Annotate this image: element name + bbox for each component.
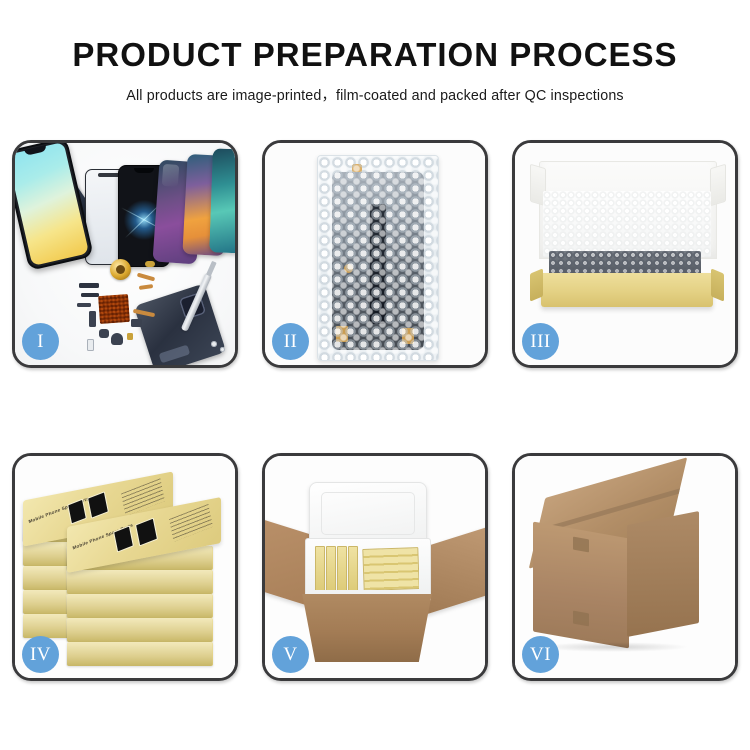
tape-mark bbox=[352, 164, 362, 172]
white-foam-sheet bbox=[543, 191, 711, 257]
inner-box-stack-item bbox=[67, 618, 213, 642]
carton-tape-mark bbox=[573, 611, 589, 627]
box-spec-lines bbox=[169, 504, 213, 542]
step-6-image: VI bbox=[515, 456, 735, 678]
carton-body bbox=[295, 594, 439, 662]
step-badge-2: II bbox=[272, 323, 309, 360]
spare-part bbox=[89, 311, 96, 327]
step-badge-4: IV bbox=[22, 636, 59, 673]
yellow-box-bundle bbox=[362, 547, 419, 590]
page-subtitle: All products are image-printed，film-coat… bbox=[0, 84, 750, 105]
step-badge-3: III bbox=[522, 323, 559, 360]
yellow-box-edge bbox=[348, 546, 358, 590]
infographic-page: PRODUCT PREPARATION PROCESS All products… bbox=[0, 0, 750, 750]
tape-mark bbox=[336, 326, 348, 342]
phone-teal-wave-icon bbox=[209, 148, 235, 253]
yellow-box-edge bbox=[326, 546, 336, 590]
carton-front-face bbox=[533, 522, 629, 649]
phone-notch-icon bbox=[134, 168, 154, 173]
inner-box-yellow-body bbox=[541, 273, 713, 307]
spare-part bbox=[99, 329, 109, 338]
screen-flex-strip bbox=[370, 204, 386, 324]
bubble-wrap-bag-icon bbox=[317, 155, 439, 361]
process-step-panel-1: I bbox=[12, 140, 238, 368]
spare-part bbox=[81, 293, 99, 297]
spare-part bbox=[77, 303, 91, 307]
step-4-image: Mobile Phone Spare Parts Mobile Phone Sp… bbox=[15, 456, 235, 678]
page-title: PRODUCT PREPARATION PROCESS bbox=[0, 38, 750, 71]
spare-part bbox=[87, 339, 94, 351]
process-step-grid: I II bbox=[12, 140, 738, 681]
copper-grid-chip-icon bbox=[98, 294, 130, 324]
header: PRODUCT PREPARATION PROCESS All products… bbox=[0, 0, 750, 105]
box-product-swatch bbox=[135, 518, 158, 547]
spare-part bbox=[131, 319, 142, 327]
box-product-swatch bbox=[87, 491, 109, 519]
inner-box-stack-item bbox=[67, 594, 213, 618]
step-2-image: II bbox=[265, 143, 485, 365]
box-product-swatch bbox=[113, 525, 134, 552]
inner-box-stack-item bbox=[67, 642, 213, 666]
carton-shadow bbox=[539, 642, 689, 652]
spare-part bbox=[79, 283, 99, 288]
process-step-panel-6: VI bbox=[512, 453, 738, 681]
spare-part bbox=[127, 333, 133, 340]
yellow-box-edge bbox=[315, 546, 325, 590]
step-1-image: I bbox=[15, 143, 235, 365]
process-step-panel-5: V bbox=[262, 453, 488, 681]
yellow-box-edge bbox=[337, 546, 347, 590]
carton-tape-mark bbox=[573, 537, 589, 553]
process-step-panel-2: II bbox=[262, 140, 488, 368]
carton-side-face bbox=[627, 511, 699, 637]
step-badge-5: V bbox=[272, 636, 309, 673]
spare-part bbox=[111, 333, 123, 345]
process-step-panel-4: Mobile Phone Spare Parts Mobile Phone Sp… bbox=[12, 453, 238, 681]
tape-mark bbox=[344, 264, 353, 273]
step-badge-1: I bbox=[22, 323, 59, 360]
step-5-image: V bbox=[265, 456, 485, 678]
process-step-panel-3: III bbox=[512, 140, 738, 368]
tape-mark bbox=[402, 328, 414, 344]
gold-coil-part-icon bbox=[110, 259, 131, 280]
step-badge-6: VI bbox=[522, 636, 559, 673]
foam-lid bbox=[309, 482, 427, 546]
inner-box-stack-item bbox=[67, 570, 213, 594]
spare-part bbox=[220, 347, 225, 352]
step-3-image: III bbox=[515, 143, 735, 365]
spare-part bbox=[211, 341, 217, 347]
yellow-boxes-inside bbox=[315, 546, 419, 590]
spare-part bbox=[145, 261, 155, 267]
